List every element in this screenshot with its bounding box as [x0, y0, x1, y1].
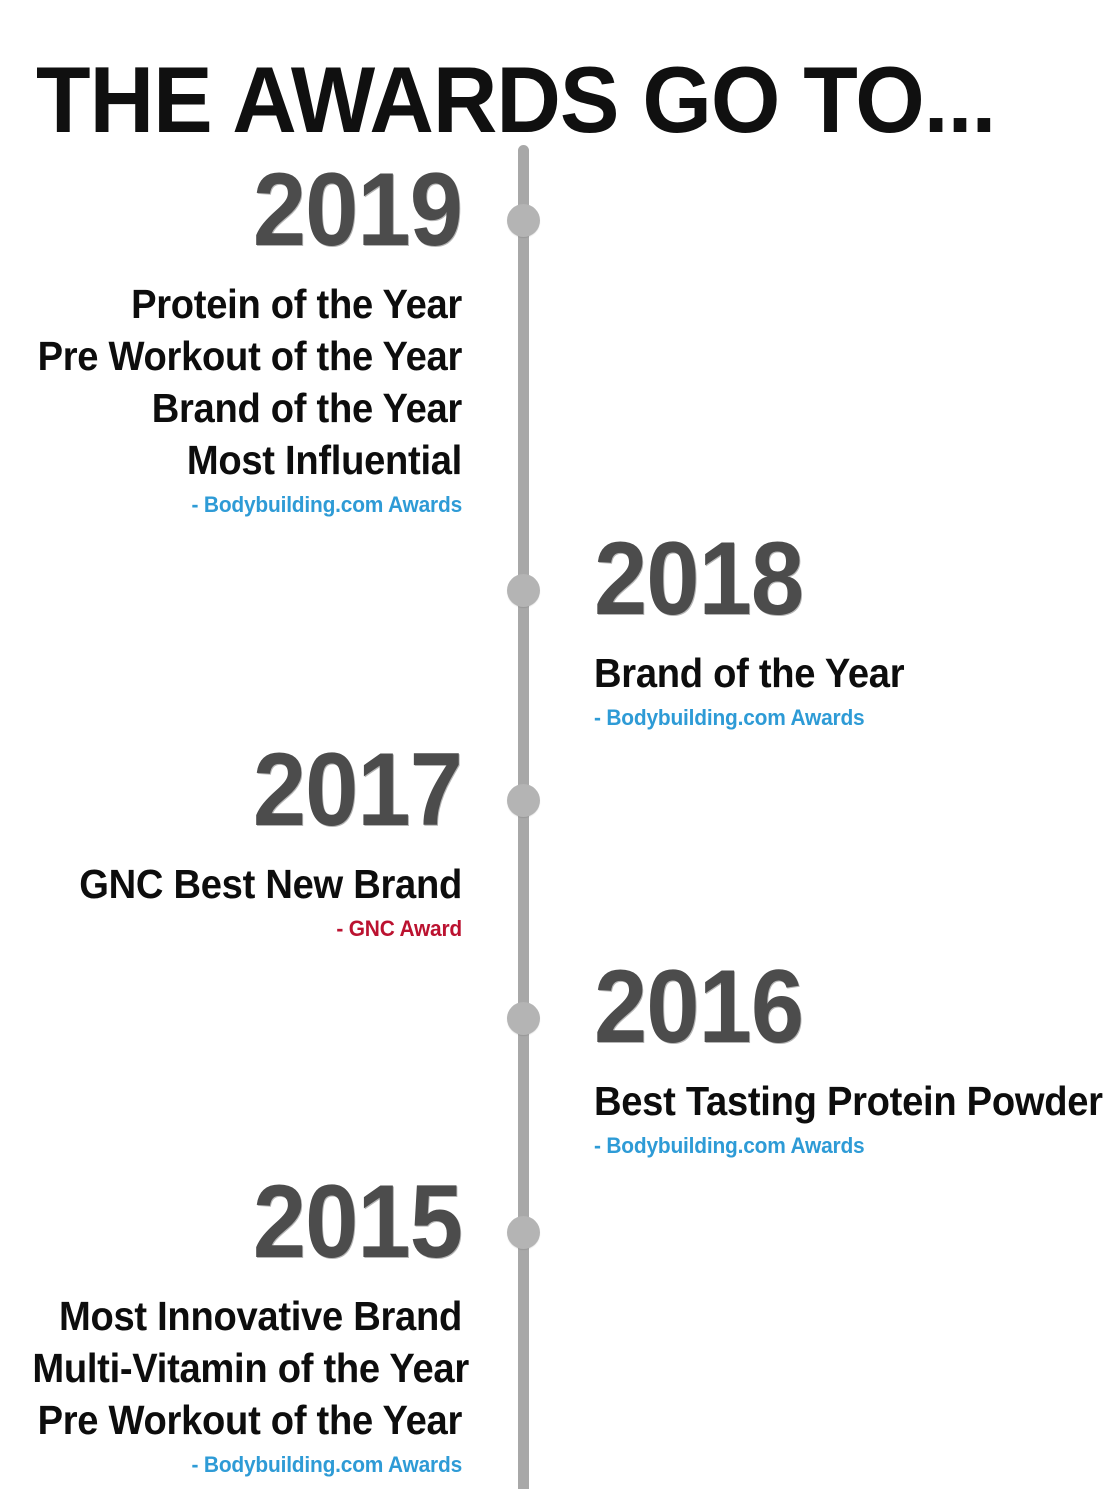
entry-year-2017: 2017 — [37, 738, 462, 842]
award-line: Most Innovative Brand — [32, 1290, 462, 1342]
entry-awards-2019: Protein of the Year Pre Workout of the Y… — [0, 278, 462, 486]
award-line: GNC Best New Brand — [32, 858, 462, 910]
entry-awards-2017: GNC Best New Brand — [0, 858, 462, 910]
timeline-dot-2016 — [507, 1002, 540, 1035]
entry-awards-2016: Best Tasting Protein Powder — [594, 1075, 1109, 1127]
award-line: Brand of the Year — [594, 647, 1073, 699]
award-line: Protein of the Year — [32, 278, 462, 330]
timeline-spine — [518, 145, 529, 1489]
entry-source-2019: - Bodybuilding.com Awards — [23, 492, 462, 518]
entry-source-2015: - Bodybuilding.com Awards — [23, 1452, 462, 1478]
entry-source-2018: - Bodybuilding.com Awards — [594, 705, 1083, 731]
timeline-dot-2019 — [507, 204, 540, 237]
entry-year-2016: 2016 — [594, 955, 1068, 1059]
award-line: Pre Workout of the Year — [32, 1394, 462, 1446]
entry-source-2016: - Bodybuilding.com Awards — [594, 1133, 1083, 1159]
timeline-entry-2018: 2018 Brand of the Year - Bodybuilding.co… — [594, 527, 1109, 731]
award-line: Most Influential — [32, 434, 462, 486]
entry-year-2019: 2019 — [37, 158, 462, 262]
timeline-dot-2017 — [507, 784, 540, 817]
timeline-dot-2018 — [507, 574, 540, 607]
entry-awards-2015: Most Innovative Brand Multi-Vitamin of t… — [0, 1290, 462, 1446]
award-line: Pre Workout of the Year — [32, 330, 462, 382]
timeline-entry-2015: 2015 Most Innovative Brand Multi-Vitamin… — [0, 1170, 462, 1478]
entry-year-2018: 2018 — [594, 527, 1068, 631]
awards-timeline-infographic: THE AWARDS GO TO... 2019 Protein of the … — [0, 0, 1109, 1489]
entry-year-2015: 2015 — [37, 1170, 462, 1274]
timeline-entry-2017: 2017 GNC Best New Brand - GNC Award — [0, 738, 462, 942]
timeline-entry-2016: 2016 Best Tasting Protein Powder - Bodyb… — [594, 955, 1109, 1159]
award-line: Brand of the Year — [32, 382, 462, 434]
page-title: THE AWARDS GO TO... — [36, 53, 1024, 147]
entry-awards-2018: Brand of the Year — [594, 647, 1109, 699]
award-line: Multi-Vitamin of the Year — [32, 1342, 462, 1394]
entry-source-2017: - GNC Award — [23, 916, 462, 942]
timeline-entry-2019: 2019 Protein of the Year Pre Workout of … — [0, 158, 462, 518]
timeline-dot-2015 — [507, 1216, 540, 1249]
award-line: Best Tasting Protein Powder — [594, 1075, 1073, 1127]
